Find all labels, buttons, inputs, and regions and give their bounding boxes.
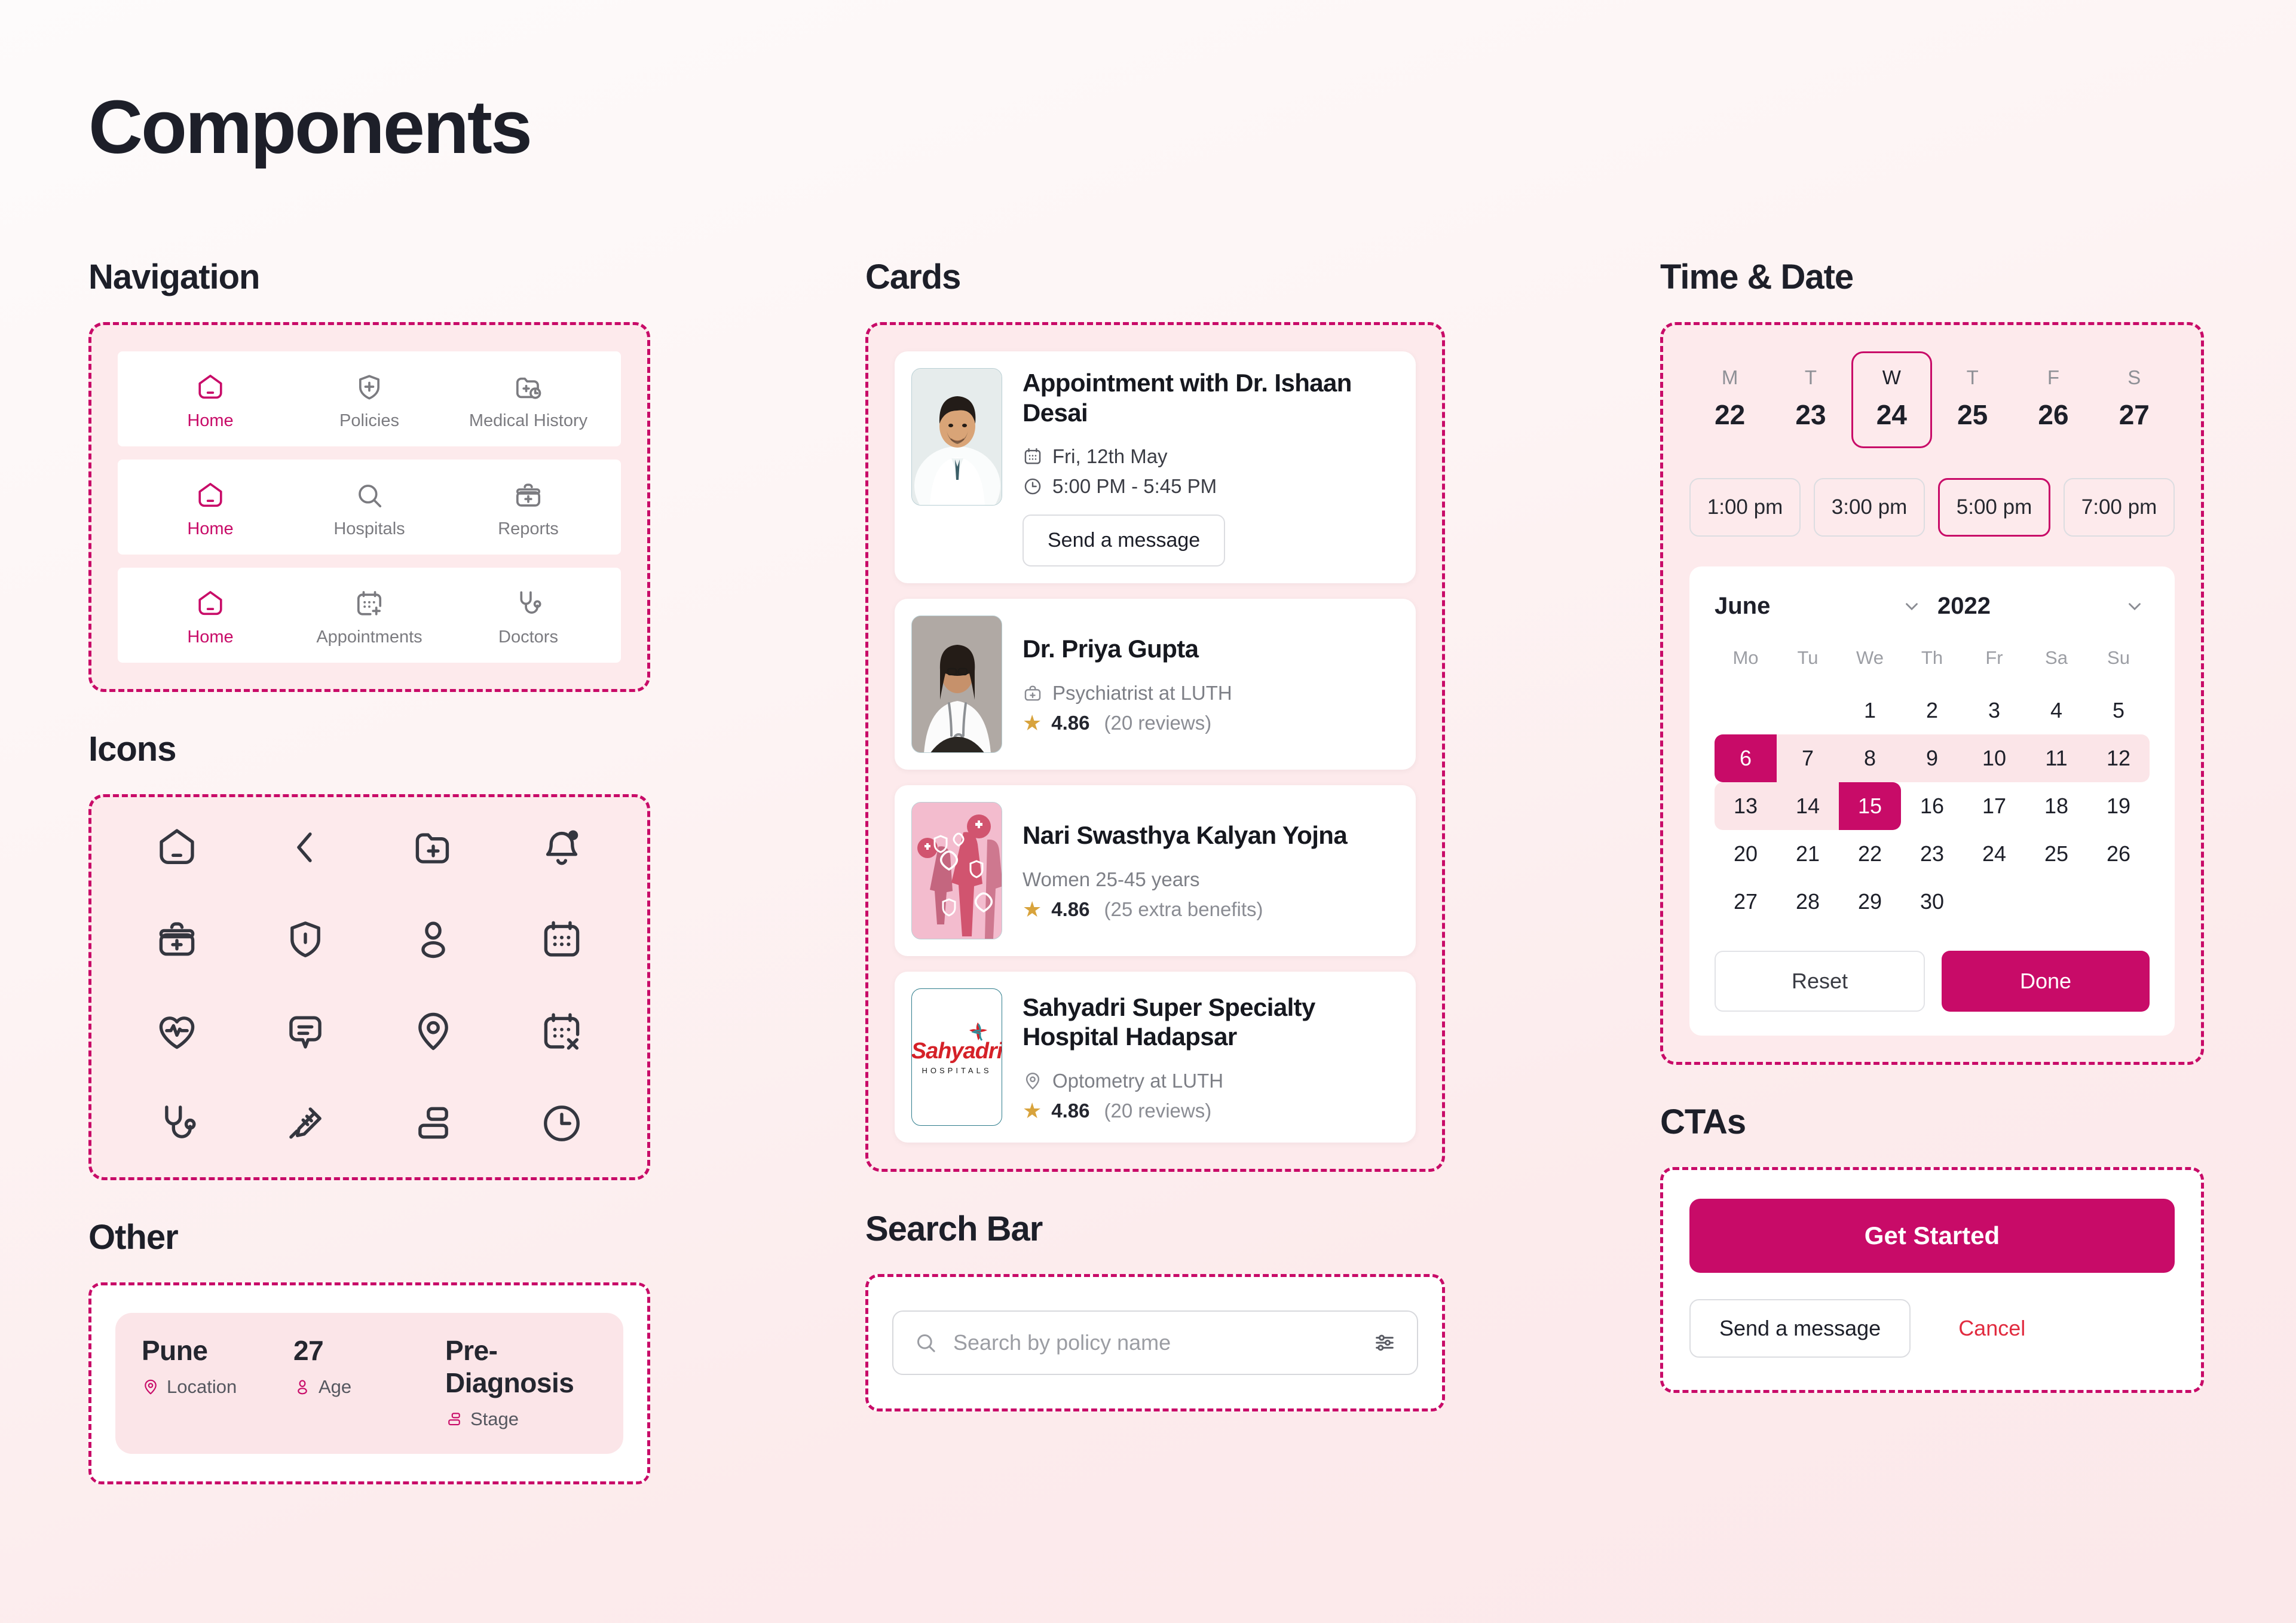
chevron-left-icon (283, 825, 328, 870)
time-date-wrap: M22T23W24T25F26S27 1:00 pm3:00 pm5:00 pm… (1689, 351, 2175, 1036)
appointment-date: Fri, 12th May (1052, 445, 1168, 468)
time-slot-3-00-pm[interactable]: 3:00 pm (1814, 478, 1925, 537)
home-icon (195, 372, 226, 403)
cta-card: Get Started Send a message Cancel (1663, 1170, 2201, 1390)
calendar-day-23[interactable]: 23 (1901, 830, 1963, 878)
doctor-rating-row: ★ 4.86 (20 reviews) (1023, 712, 1399, 734)
send-a-message-button[interactable]: Send a message (1689, 1299, 1911, 1358)
nav-item-doctors[interactable]: Doctors (449, 588, 608, 647)
day-strip: M22T23W24T25F26S27 (1689, 351, 2175, 448)
stat-age: 27Age (293, 1334, 445, 1430)
stat-stage: Pre-DiagnosisStage (445, 1334, 597, 1430)
get-started-button[interactable]: Get Started (1689, 1199, 2175, 1273)
women-health-illustration (911, 802, 1002, 939)
time-slot-row: 1:00 pm3:00 pm5:00 pm7:00 pm (1689, 478, 2175, 537)
sahyadri-hospitals-logo: Sahyadri HOSPITALS (911, 988, 1002, 1126)
day-of-week: T (1934, 366, 2011, 389)
scheme-rating-value: 4.86 (1051, 898, 1089, 921)
calendar-header: June 2022 (1715, 593, 2150, 620)
send-a-message-button[interactable]: Send a message (1023, 515, 1225, 566)
nav-item-home[interactable]: Home (131, 480, 290, 539)
scheme-card[interactable]: Nari Swasthya Kalyan Yojna Women 25-45 y… (895, 785, 1416, 956)
day-chip-26[interactable]: F26 (2013, 351, 2093, 448)
icon-cell[interactable] (241, 1009, 370, 1054)
calendar-day-10[interactable]: 10 (1963, 734, 2025, 782)
calendar-day-26[interactable]: 26 (2087, 830, 2150, 878)
calendar-day-19[interactable]: 19 (2087, 782, 2150, 830)
calendar-day-15[interactable]: 15 (1839, 782, 1901, 830)
icon-cell[interactable] (498, 1009, 626, 1054)
icon-cell[interactable] (498, 917, 626, 962)
icon-cell[interactable] (113, 917, 241, 962)
nav-item-label: Hospitals (333, 519, 405, 539)
day-chip-24[interactable]: W24 (1851, 351, 1932, 448)
section-title-cards: Cards (865, 257, 1445, 297)
calendar-widget: June 2022 MoTuWeThFrSaSu1234567891011121… (1689, 566, 2175, 1036)
hospital-card-body: Sahyadri Super Specialty Hospital Hadaps… (1023, 988, 1399, 1126)
stat-label-row: Age (293, 1376, 445, 1398)
calendar-x-icon (539, 1009, 584, 1054)
reset-button[interactable]: Reset (1715, 951, 1925, 1012)
icon-cell[interactable] (113, 1009, 241, 1054)
calendar-day-4[interactable]: 4 (2025, 687, 2087, 734)
home-icon (154, 825, 200, 870)
calendar-day-13[interactable]: 13 (1715, 782, 1777, 830)
stat-label: Age (319, 1376, 351, 1398)
day-number: 24 (1853, 399, 1930, 431)
hospital-rating-count: (20 reviews) (1104, 1100, 1212, 1122)
doctor-male-photo (911, 368, 1002, 506)
search-panel: Search by policy name (865, 1274, 1445, 1411)
folder-plus-icon (411, 825, 456, 870)
medical-bag-icon (154, 917, 200, 962)
hospital-department-row: Optometry at LUTH (1023, 1070, 1399, 1092)
cancel-button[interactable]: Cancel (1946, 1316, 2037, 1341)
cta-secondary-row: Send a message Cancel (1689, 1299, 2175, 1358)
calendar-dow-label: Su (2087, 647, 2150, 687)
calendar-day-14[interactable]: 14 (1777, 782, 1839, 830)
done-button[interactable]: Done (1942, 951, 2150, 1012)
calendar-day-7[interactable]: 7 (1777, 734, 1839, 782)
cards-panel: Appointment with Dr. Ishaan Desai Fri, 1… (865, 322, 1445, 1172)
shield-plus-icon (354, 372, 385, 403)
calendar-actions: Reset Done (1715, 951, 2150, 1012)
icon-cell[interactable] (369, 917, 498, 962)
stat-label: Stage (470, 1408, 519, 1430)
time-slot-7-00-pm[interactable]: 7:00 pm (2064, 478, 2175, 537)
nav-item-label: Home (187, 627, 233, 647)
calendar-day-27[interactable]: 27 (1715, 878, 1777, 926)
calendar-blank (1715, 687, 1777, 734)
day-of-week: F (2015, 366, 2092, 389)
appointment-time: 5:00 PM - 5:45 PM (1052, 475, 1217, 498)
section-title-navigation: Navigation (88, 257, 650, 297)
day-chip-27[interactable]: S27 (2094, 351, 2175, 448)
location-pin-icon (411, 1009, 456, 1054)
icon-cell[interactable] (369, 1101, 498, 1146)
column-right: Time & Date M22T23W24T25F26S27 1:00 pm3:… (1660, 257, 2204, 1393)
stat-location: PuneLocation (142, 1334, 293, 1430)
day-of-week: S (2096, 366, 2173, 389)
calendar-day-20[interactable]: 20 (1715, 830, 1777, 878)
nav-item-hospitals[interactable]: Hospitals (290, 480, 449, 539)
navigation-rows: HomePoliciesMedical HistoryHomeHospitals… (118, 351, 621, 663)
calendar-day-11[interactable]: 11 (2025, 734, 2087, 782)
nav-bar-3: HomeAppointmentsDoctors (118, 568, 621, 663)
star-icon: ★ (1023, 712, 1042, 734)
nav-item-reports[interactable]: Reports (449, 480, 608, 539)
shield-icon (283, 917, 328, 962)
cards-list: Appointment with Dr. Ishaan Desai Fri, 1… (895, 351, 1416, 1143)
icon-cell[interactable] (369, 825, 498, 870)
syringe-icon (283, 1101, 328, 1146)
calendar-dow-label: Fr (1963, 647, 2025, 687)
time-slot-1-00-pm[interactable]: 1:00 pm (1689, 478, 1801, 537)
hospital-department: Optometry at LUTH (1052, 1070, 1223, 1092)
layout-icon (411, 1101, 456, 1146)
scheme-card-body: Nari Swasthya Kalyan Yojna Women 25-45 y… (1023, 802, 1399, 939)
calendar-dow-label: Mo (1715, 647, 1777, 687)
nav-item-label: Home (187, 519, 233, 539)
location-pin-icon (1023, 1071, 1043, 1091)
calendar-day-17[interactable]: 17 (1963, 782, 2025, 830)
nav-item-home[interactable]: Home (131, 372, 290, 431)
calendar-month: June (1715, 593, 1770, 620)
icon-cell[interactable] (113, 1101, 241, 1146)
patient-summary-card: PuneLocation27AgePre-DiagnosisStage (91, 1285, 647, 1481)
column-left: Navigation HomePoliciesMedical HistoryHo… (88, 257, 650, 1484)
calendar-day-29[interactable]: 29 (1839, 878, 1901, 926)
appointment-title-prefix: Appointment with (1023, 369, 1235, 397)
calendar-day-18[interactable]: 18 (2025, 782, 2087, 830)
calendar-icon (539, 917, 584, 962)
star-icon: ★ (1023, 899, 1042, 920)
bell-icon (539, 825, 584, 870)
clock-icon (1023, 476, 1043, 497)
doctor-name: Dr. Priya Gupta (1023, 634, 1399, 664)
nav-item-label: Policies (339, 411, 399, 431)
appointment-card-title: Appointment with Dr. Ishaan Desai (1023, 368, 1399, 427)
calendar-dow-label: Tu (1777, 647, 1839, 687)
doctor-specialty-row: Psychiatrist at LUTH (1023, 682, 1399, 705)
hospital-rating-value: 4.86 (1051, 1100, 1089, 1122)
month-select[interactable]: June (1715, 593, 1927, 620)
appointment-card[interactable]: Appointment with Dr. Ishaan Desai Fri, 1… (895, 351, 1416, 583)
chevron-down-icon (1902, 596, 1922, 617)
stat-label: Location (167, 1376, 237, 1398)
nav-item-label: Reports (498, 519, 559, 539)
components-page: Components Navigation HomePoliciesMedica… (0, 0, 2296, 1623)
stat-value: 27 (293, 1334, 445, 1367)
search-card: Search by policy name (868, 1277, 1442, 1408)
calendar-dow-label: Th (1901, 647, 1963, 687)
scheme-eligibility: Women 25-45 years (1023, 868, 1200, 891)
scheme-benefits-count: (25 extra benefits) (1104, 898, 1263, 921)
sliders-icon[interactable] (1373, 1331, 1397, 1355)
nav-item-medical-history[interactable]: Medical History (449, 372, 608, 431)
user-icon (411, 917, 456, 962)
clock-icon (539, 1101, 584, 1146)
calendar-day-6[interactable]: 6 (1715, 734, 1777, 782)
calendar-day-9[interactable]: 9 (1901, 734, 1963, 782)
stat-value: Pre-Diagnosis (445, 1334, 597, 1399)
doctor-card-body: Dr. Priya Gupta Psychiatrist at LUTH ★ (1023, 615, 1399, 753)
icon-cell[interactable] (241, 825, 370, 870)
calendar-day-24[interactable]: 24 (1963, 830, 2025, 878)
search-placeholder: Search by policy name (953, 1330, 1357, 1355)
sahyadri-cross-icon (968, 1021, 988, 1042)
heart-pulse-icon (154, 1009, 200, 1054)
section-title-search-bar: Search Bar (865, 1209, 1445, 1249)
calendar-day-22[interactable]: 22 (1839, 830, 1901, 878)
icon-cell[interactable] (241, 1101, 370, 1146)
day-chip-25[interactable]: T25 (1932, 351, 2013, 448)
location-pin-icon (142, 1378, 160, 1396)
day-number: 26 (2015, 399, 2092, 431)
section-title-ctas: CTAs (1660, 1102, 2204, 1142)
icon-cell[interactable] (498, 825, 626, 870)
hospital-name: Sahyadri Super Specialty Hospital Hadaps… (1023, 993, 1399, 1052)
nav-item-label: Medical History (469, 411, 587, 431)
day-number: 27 (2096, 399, 2173, 431)
home-icon (195, 480, 226, 511)
page-title: Components (88, 84, 531, 170)
doctor-specialty: Psychiatrist at LUTH (1052, 682, 1232, 705)
medical-bag-icon (1023, 683, 1043, 703)
section-title-time-date: Time & Date (1660, 257, 2204, 297)
folder-plus-clock-icon (513, 372, 544, 403)
nav-item-policies[interactable]: Policies (290, 372, 449, 431)
calendar-day-21[interactable]: 21 (1777, 830, 1839, 878)
layout-icon (445, 1410, 463, 1428)
navigation-panel: HomePoliciesMedical HistoryHomeHospitals… (88, 322, 650, 692)
calendar-plus-icon (354, 588, 385, 619)
nav-item-label: Appointments (316, 627, 422, 647)
calendar-day-12[interactable]: 12 (2087, 734, 2150, 782)
calendar-day-3[interactable]: 3 (1963, 687, 2025, 734)
calendar-day-25[interactable]: 25 (2025, 830, 2087, 878)
calendar-day-5[interactable]: 5 (2087, 687, 2150, 734)
stats-pill: PuneLocation27AgePre-DiagnosisStage (115, 1313, 623, 1454)
calendar-day-30[interactable]: 30 (1901, 878, 1963, 926)
calendar-dow-label: We (1839, 647, 1901, 687)
nav-bar-1: HomePoliciesMedical History (118, 351, 621, 446)
day-number: 25 (1934, 399, 2011, 431)
stethoscope-icon (513, 588, 544, 619)
calendar-day-16[interactable]: 16 (1901, 782, 1963, 830)
sahyadri-wordmark: Sahyadri (911, 1040, 1002, 1062)
calendar-grid: MoTuWeThFrSaSu12345678910111213141516171… (1715, 647, 2150, 926)
nav-item-label: Doctors (498, 627, 558, 647)
day-of-week: M (1691, 366, 1768, 389)
calendar-blank (1777, 687, 1839, 734)
hospital-card[interactable]: Sahyadri HOSPITALS Sahyadri Super Specia… (895, 972, 1416, 1143)
calendar-day-28[interactable]: 28 (1777, 878, 1839, 926)
day-number: 23 (1772, 399, 1849, 431)
other-panel: PuneLocation27AgePre-DiagnosisStage (88, 1282, 650, 1484)
column-middle: Cards (865, 257, 1445, 1411)
chevron-down-icon (2124, 596, 2145, 617)
scheme-name: Nari Swasthya Kalyan Yojna (1023, 820, 1399, 850)
sahyadri-logo-text: Sahyadri HOSPITALS (911, 1040, 1002, 1074)
stat-label-row: Location (142, 1376, 293, 1398)
user-icon (293, 1378, 311, 1396)
icons-panel (88, 794, 650, 1180)
calendar-day-2[interactable]: 2 (1901, 687, 1963, 734)
day-number: 22 (1691, 399, 1768, 431)
medical-bag-icon (513, 480, 544, 511)
nav-bar-2: HomeHospitalsReports (118, 460, 621, 555)
appointment-time-row: 5:00 PM - 5:45 PM (1023, 475, 1399, 498)
sahyadri-subtext: HOSPITALS (911, 1067, 1002, 1074)
doctor-female-photo (911, 615, 1002, 753)
calendar-dow-label: Sa (2025, 647, 2087, 687)
icon-cell[interactable] (241, 917, 370, 962)
star-icon: ★ (1023, 1100, 1042, 1122)
day-of-week: T (1772, 366, 1849, 389)
chat-bubble-icon (283, 1009, 328, 1054)
section-title-icons: Icons (88, 729, 650, 769)
appointment-date-row: Fri, 12th May (1023, 445, 1399, 468)
scheme-eligibility-row: Women 25-45 years (1023, 868, 1399, 891)
ctas-panel: Get Started Send a message Cancel (1660, 1167, 2204, 1393)
nav-item-home[interactable]: Home (131, 588, 290, 647)
day-chip-23[interactable]: T23 (1770, 351, 1851, 448)
icon-cell[interactable] (369, 1009, 498, 1054)
stat-value: Pune (142, 1334, 293, 1367)
icon-cell[interactable] (113, 825, 241, 870)
home-icon (195, 588, 226, 619)
section-title-other: Other (88, 1217, 650, 1257)
scheme-rating-row: ★ 4.86 (25 extra benefits) (1023, 898, 1399, 921)
time-slot-5-00-pm[interactable]: 5:00 pm (1938, 478, 2050, 537)
time-date-panel: M22T23W24T25F26S27 1:00 pm3:00 pm5:00 pm… (1660, 322, 2204, 1065)
doctor-rating-value: 4.86 (1051, 712, 1089, 734)
nav-item-appointments[interactable]: Appointments (290, 588, 449, 647)
calendar-icon (1023, 446, 1043, 467)
calendar-day-8[interactable]: 8 (1839, 734, 1901, 782)
stethoscope-icon (154, 1101, 200, 1146)
doctor-rating-count: (20 reviews) (1104, 712, 1212, 734)
hospital-rating-row: ★ 4.86 (20 reviews) (1023, 1100, 1399, 1122)
search-icon (354, 480, 385, 511)
day-of-week: W (1853, 366, 1930, 389)
icon-grid (91, 797, 647, 1177)
appointment-card-body: Appointment with Dr. Ishaan Desai Fri, 1… (1023, 368, 1399, 566)
day-chip-22[interactable]: M22 (1689, 351, 1770, 448)
stat-label-row: Stage (445, 1408, 597, 1430)
calendar-year: 2022 (1937, 593, 1991, 620)
doctor-card[interactable]: Dr. Priya Gupta Psychiatrist at LUTH ★ (895, 599, 1416, 770)
search-input[interactable]: Search by policy name (892, 1310, 1418, 1375)
icon-cell[interactable] (498, 1101, 626, 1146)
calendar-day-1[interactable]: 1 (1839, 687, 1901, 734)
nav-item-label: Home (187, 411, 233, 431)
year-select[interactable]: 2022 (1937, 593, 2150, 620)
search-icon (914, 1331, 938, 1355)
